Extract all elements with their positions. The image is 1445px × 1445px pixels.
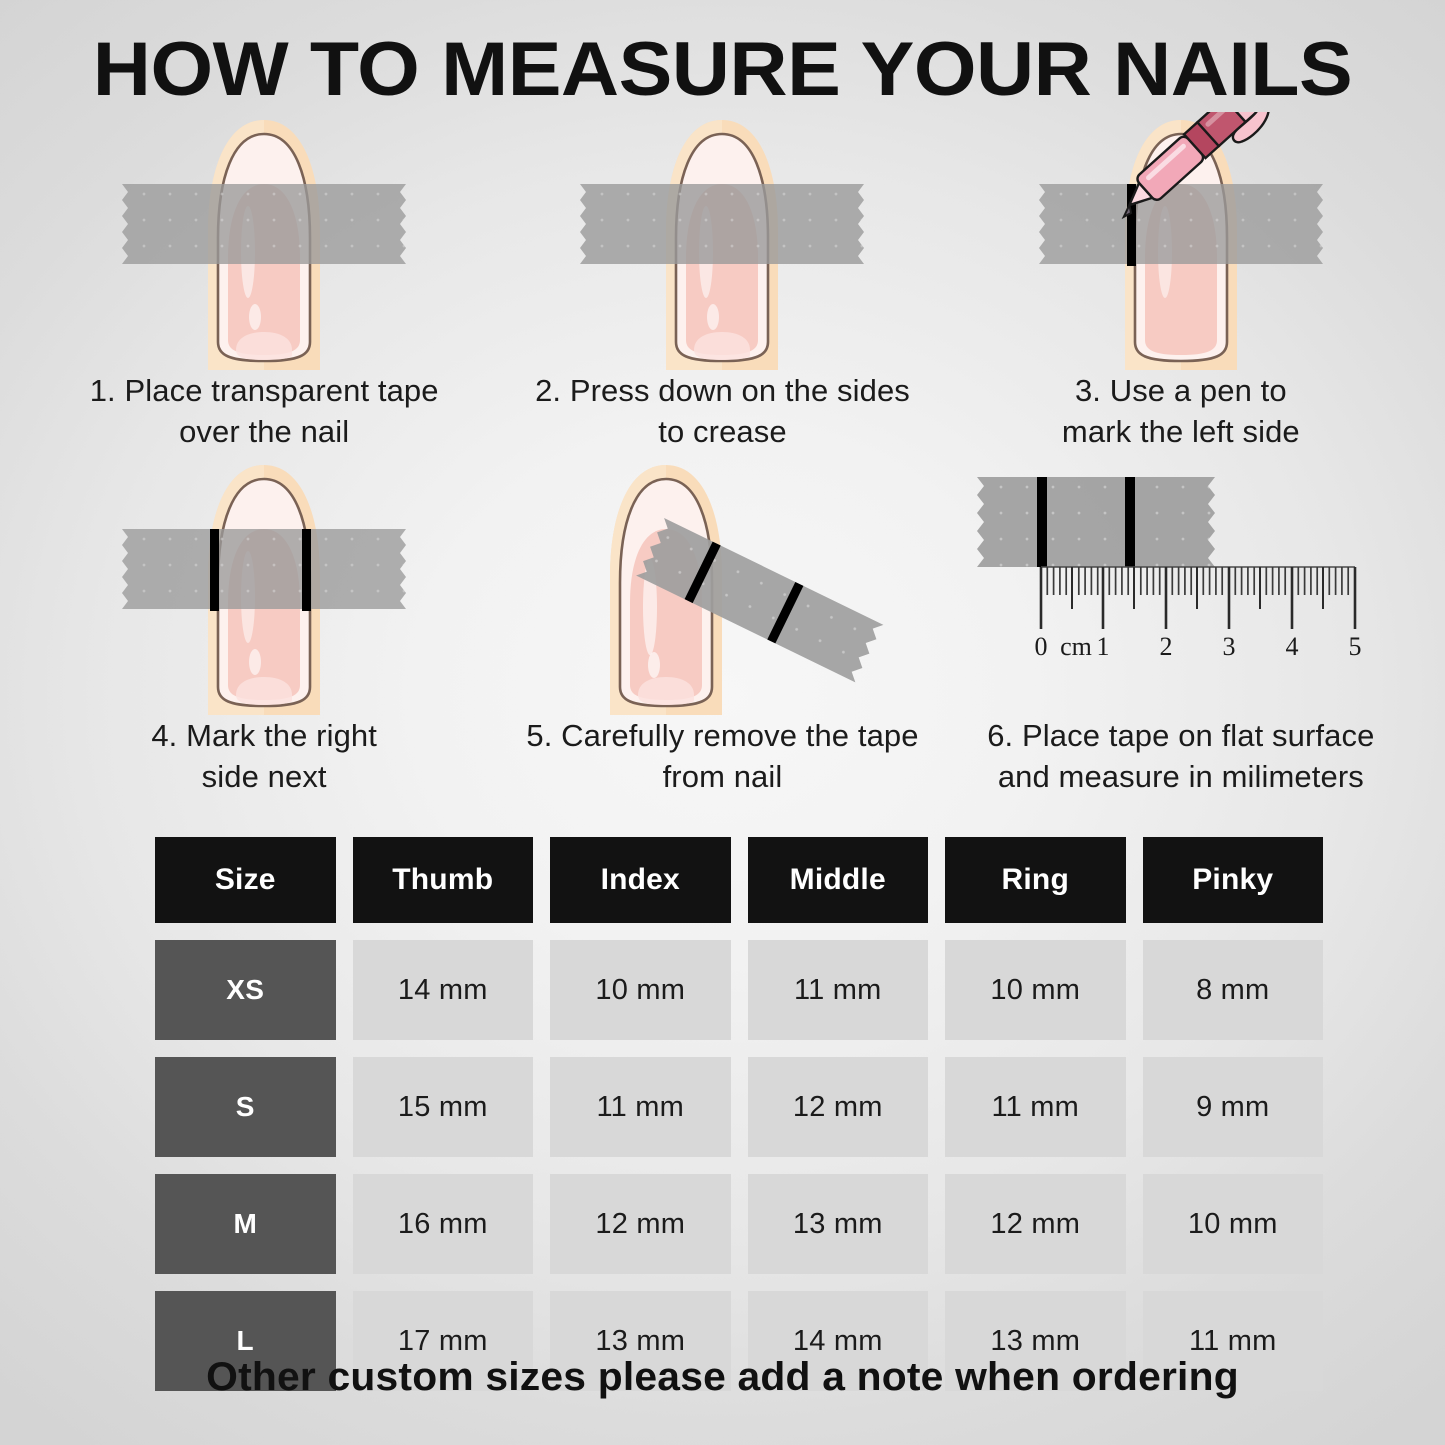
ruler-tick-2: 2 [1159,632,1172,661]
cell-s-ring: 11 mm [945,1057,1126,1157]
step-2-caption: 2. Press down on the sides to crease [493,370,951,452]
size-label-m: M [155,1174,336,1274]
footer-note: Other custom sizes please add a note whe… [0,1355,1445,1400]
ruler: 0 cm 1 2 3 4 5 [1034,567,1361,661]
step-6-caption-line2: and measure in milimeters [952,756,1410,797]
step-5-caption: 5. Carefully remove the tape from nail [493,715,951,797]
table-header-row: Size Thumb Index Middle Ring Pinky [155,837,1323,923]
size-label-xs: XS [155,940,336,1040]
cell-m-ring: 12 mm [945,1174,1126,1274]
step-3-illustration [952,112,1410,370]
step-1-caption-line1: 1. Place transparent tape [35,370,493,411]
column-header-middle: Middle [748,837,929,923]
step-6-caption: 6. Place tape on flat surface and measur… [952,715,1410,797]
step-1-caption-line2: over the nail [35,411,493,452]
step-5: 5. Carefully remove the tape from nail [493,457,951,802]
step-2-illustration [493,112,951,370]
cell-xs-index: 10 mm [550,940,731,1040]
right-mark [1125,477,1135,567]
step-3-caption-line1: 3. Use a pen to [952,370,1410,411]
step-4-caption: 4. Mark the right side next [35,715,493,797]
step-1-caption: 1. Place transparent tape over the nail [35,370,493,452]
left-mark [210,529,219,611]
cell-m-thumb: 16 mm [353,1174,534,1274]
ruler-tick-0: 0 [1034,632,1047,661]
cell-xs-ring: 10 mm [945,940,1126,1040]
cell-s-index: 11 mm [550,1057,731,1157]
table-row: XS 14 mm 10 mm 11 mm 10 mm 8 mm [155,940,1323,1040]
cell-xs-thumb: 14 mm [353,940,534,1040]
cell-m-middle: 13 mm [748,1174,929,1274]
page-title: HOW TO MEASURE YOUR NAILS [0,26,1445,113]
step-1: 1. Place transparent tape over the nail [35,112,493,457]
step-3-caption: 3. Use a pen to mark the left side [952,370,1410,452]
cell-m-index: 12 mm [550,1174,731,1274]
infographic-page: HOW TO MEASURE YOUR NAILS [0,0,1445,1445]
step-2-caption-line2: to crease [493,411,951,452]
step-5-caption-line1: 5. Carefully remove the tape [493,715,951,756]
ruler-unit: cm [1060,632,1092,661]
tape-strip [977,477,1215,567]
cell-xs-pinky: 8 mm [1143,940,1324,1040]
step-6: 0 cm 1 2 3 4 5 6. Place tape on flat sur… [952,457,1410,802]
step-5-caption-line2: from nail [493,756,951,797]
step-2-caption-line1: 2. Press down on the sides [493,370,951,411]
table-row: M 16 mm 12 mm 13 mm 12 mm 10 mm [155,1174,1323,1274]
cell-m-pinky: 10 mm [1143,1174,1324,1274]
ruler-tick-3: 3 [1222,632,1235,661]
step-6-illustration: 0 cm 1 2 3 4 5 [952,457,1410,715]
step-4-caption-line1: 4. Mark the right [35,715,493,756]
ruler-tick-1: 1 [1096,632,1109,661]
left-mark [1037,477,1047,567]
cell-s-middle: 12 mm [748,1057,929,1157]
ruler-tick-4: 4 [1285,632,1298,661]
step-5-illustration [493,457,951,715]
step-6-caption-line1: 6. Place tape on flat surface [952,715,1410,756]
right-mark [302,529,311,611]
column-header-size: Size [155,837,336,923]
step-3: 3. Use a pen to mark the left side [952,112,1410,457]
step-3-caption-line2: mark the left side [952,411,1410,452]
cell-s-thumb: 15 mm [353,1057,534,1157]
column-header-index: Index [550,837,731,923]
step-1-illustration [35,112,493,370]
ruler-tick-5: 5 [1348,632,1361,661]
step-4-caption-line2: side next [35,756,493,797]
size-label-s: S [155,1057,336,1157]
table-row: S 15 mm 11 mm 12 mm 11 mm 9 mm [155,1057,1323,1157]
steps-grid: 1. Place transparent tape over the nail [35,112,1410,802]
step-4-illustration [35,457,493,715]
column-header-ring: Ring [945,837,1126,923]
size-chart-table: Size Thumb Index Middle Ring Pinky XS 14… [155,837,1323,1391]
step-2: 2. Press down on the sides to crease [493,112,951,457]
column-header-thumb: Thumb [353,837,534,923]
column-header-pinky: Pinky [1143,837,1324,923]
cell-xs-middle: 11 mm [748,940,929,1040]
step-4: 4. Mark the right side next [35,457,493,802]
cell-s-pinky: 9 mm [1143,1057,1324,1157]
